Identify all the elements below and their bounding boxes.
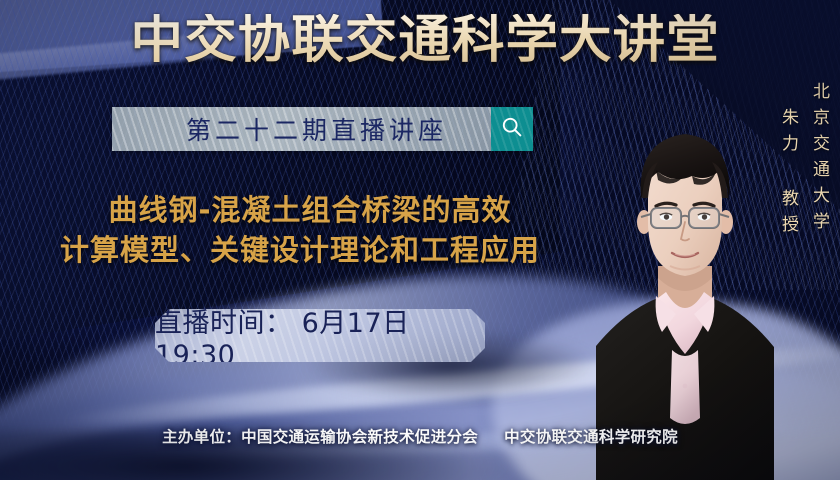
schedule-text: 直播时间： 6月17日19:30 [155, 301, 485, 371]
poster-content: 中交协联交通科学大讲堂 第二十二期直播讲座 曲线钢-混凝土组合桥梁的高效 计算模… [0, 0, 840, 480]
speaker-affiliation: 北京交通大学 [807, 82, 832, 238]
speaker-name: 朱力 教授 [776, 108, 801, 241]
schedule-badge: 直播时间： 6月17日19:30 [155, 309, 485, 362]
organizers-footer: 主办单位：中国交通运输协会新技术促进分会中交协联交通科学研究院 [0, 425, 840, 447]
search-button[interactable] [491, 107, 533, 151]
headline-line-1: 曲线钢-混凝土组合桥梁的高效 [0, 190, 600, 230]
episode-banner: 第二十二期直播讲座 [112, 107, 533, 151]
episode-banner-label-area: 第二十二期直播讲座 [112, 107, 491, 151]
headline-line-2: 计算模型、关键设计理论和工程应用 [0, 230, 600, 270]
organizers-prefix: 主办单位： [162, 428, 241, 446]
episode-label: 第二十二期直播讲座 [156, 111, 447, 147]
organizer-2: 中交协联交通科学研究院 [504, 428, 678, 446]
page-title: 中交协联交通科学大讲堂 [0, 14, 840, 68]
organizer-1: 中国交通运输协会新技术促进分会 [241, 428, 478, 446]
search-icon [500, 115, 524, 144]
lecture-headline: 曲线钢-混凝土组合桥梁的高效 计算模型、关键设计理论和工程应用 [0, 190, 600, 270]
webinar-poster: 中交协联交通科学大讲堂 第二十二期直播讲座 曲线钢-混凝土组合桥梁的高效 计算模… [0, 0, 840, 480]
